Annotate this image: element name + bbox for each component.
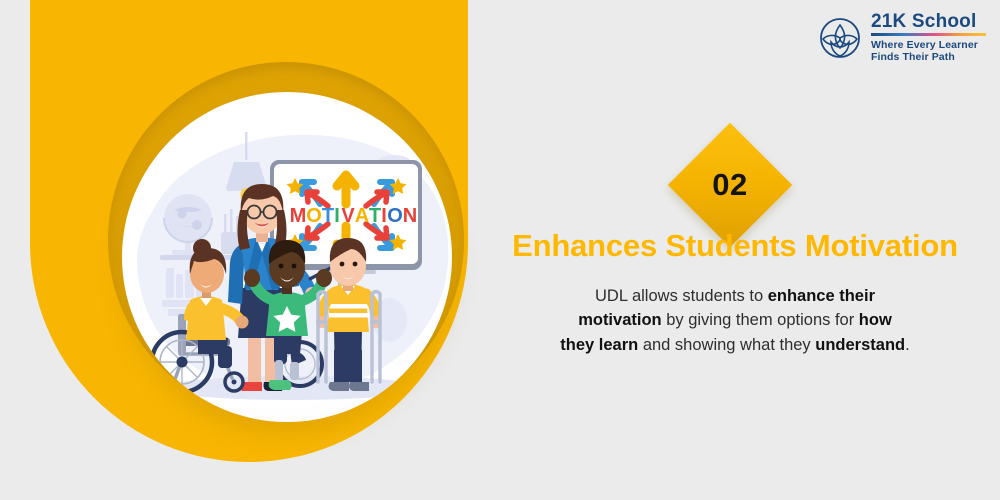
svg-text:O: O bbox=[387, 205, 403, 227]
svg-text:O: O bbox=[306, 205, 322, 227]
illustration-circle: M O T I V A T I O N bbox=[122, 92, 452, 422]
svg-text:T: T bbox=[322, 205, 334, 227]
body-paragraph: UDL allows students to enhance their mot… bbox=[560, 284, 910, 357]
brand-gradient-rule bbox=[871, 33, 986, 36]
yellow-panel: M O T I V A T I O N bbox=[30, 0, 468, 462]
slide-canvas: M O T I V A T I O N bbox=[0, 0, 1000, 500]
lotus-circle-icon bbox=[818, 16, 862, 60]
svg-text:A: A bbox=[355, 205, 369, 227]
brand-name: 21K School bbox=[871, 12, 986, 31]
svg-text:I: I bbox=[381, 205, 387, 227]
svg-text:N: N bbox=[403, 205, 417, 227]
number-badge-value: 02 bbox=[686, 141, 774, 229]
brand-tagline-line2: Finds Their Path bbox=[871, 51, 955, 63]
svg-text:V: V bbox=[341, 205, 355, 227]
brand-tagline: Where Every Learner Finds Their Path bbox=[871, 39, 986, 64]
svg-text:I: I bbox=[334, 205, 340, 227]
brand-tagline-line1: Where Every Learner bbox=[871, 39, 978, 51]
brand-logo[interactable]: 21K School Where Every Learner Finds The… bbox=[818, 12, 986, 64]
svg-text:T: T bbox=[369, 205, 381, 227]
inclusive-classroom-illustration: M O T I V A T I O N bbox=[122, 92, 452, 422]
brand-logo-text: 21K School Where Every Learner Finds The… bbox=[871, 12, 986, 64]
whiteboard-word: M O T I V A T I O N bbox=[290, 205, 418, 227]
svg-text:M: M bbox=[290, 205, 307, 227]
page-title: Enhances Students Motivation bbox=[470, 228, 1000, 264]
